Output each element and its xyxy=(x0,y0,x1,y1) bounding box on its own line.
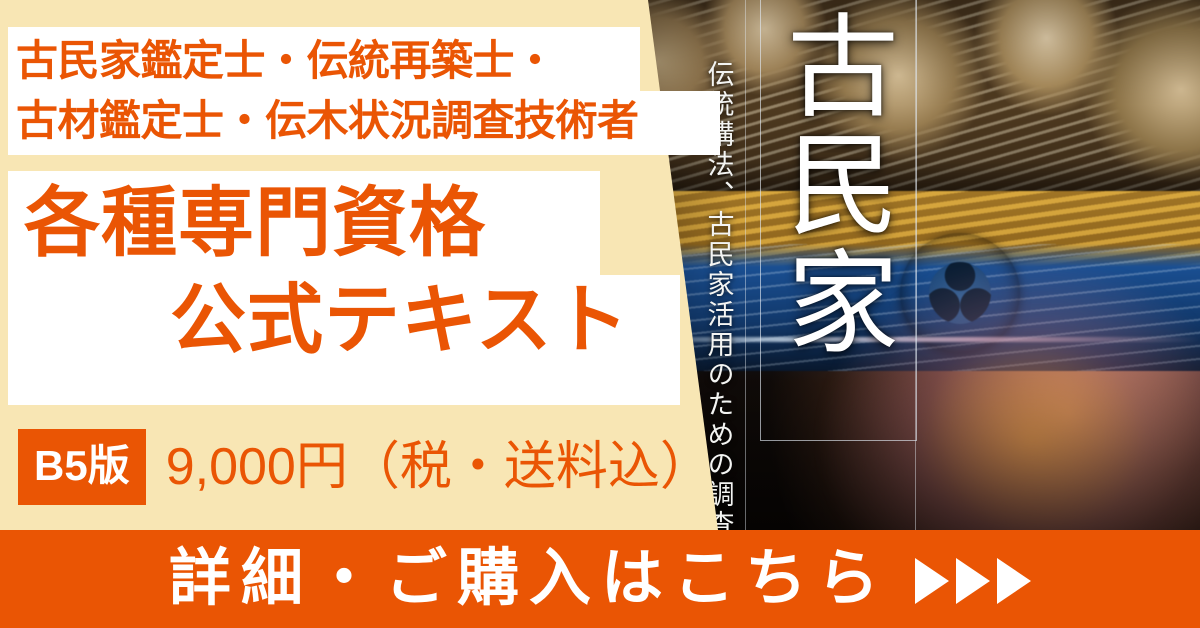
triangle-right-icon-1 xyxy=(915,558,949,604)
product-title-line-2: 公式テキスト xyxy=(170,283,630,359)
qualifications-line-2: 古材鑑定士・伝木状況調査技術者 xyxy=(16,91,716,151)
size-badge: B5版 xyxy=(18,429,146,505)
product-title-line-1: 各種専門資格 xyxy=(24,186,486,262)
cover-title: 古民家 xyxy=(778,8,898,362)
cta-arrows xyxy=(915,558,1031,604)
triangle-right-icon-2 xyxy=(956,558,990,604)
qualifications-line-1: 古民家鑑定士・伝統再築士・ xyxy=(16,31,716,91)
cta-bar[interactable]: 詳細・ご購入はこちら xyxy=(0,530,1200,628)
triangle-right-icon-3 xyxy=(997,558,1031,604)
qualifications-text: 古民家鑑定士・伝統再築士・ 古材鑑定士・伝木状況調査技術者 xyxy=(16,27,716,155)
promo-banner: 伝統構法、古民家活用のための調査と再生の 古民家 古民家鑑定士・伝統再築士・ 古… xyxy=(0,0,1200,628)
cta-label: 詳細・ご購入はこちら xyxy=(169,548,889,610)
price-amount: 9,000円（税・送料込） xyxy=(166,441,712,493)
price-row: B5版 9,000円（税・送料込） xyxy=(18,428,712,506)
